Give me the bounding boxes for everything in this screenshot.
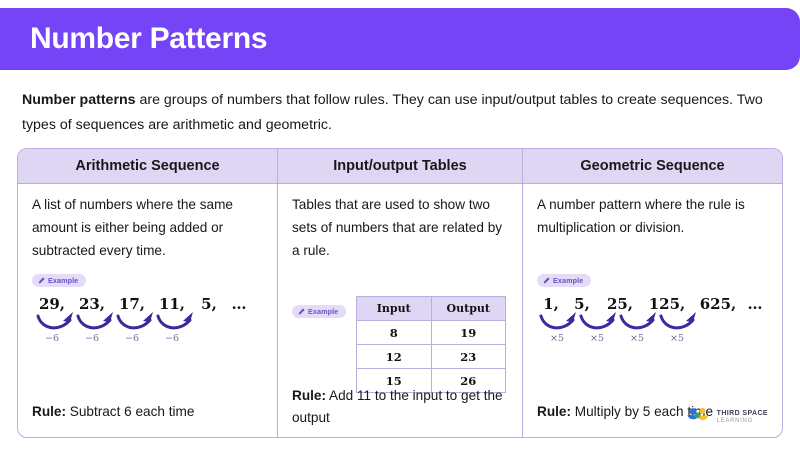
- seq-term-ellipsis: …: [226, 295, 252, 313]
- column-header-geometric: Geometric Sequence: [523, 149, 782, 184]
- sequence-numbers-geometric: 1, 5, 25, 125, 625, …: [537, 295, 768, 313]
- intro-paragraph: Number patterns are groups of numbers th…: [22, 88, 784, 138]
- column-geometric-sequence: Geometric Sequence A number pattern wher…: [523, 149, 782, 437]
- seq-term: 17,: [112, 295, 152, 313]
- rule-arithmetic: Rule: Subtract 6 each time: [32, 401, 265, 423]
- rule-label: Rule:: [537, 404, 571, 419]
- seq-term: 5,: [192, 295, 226, 313]
- sequence-arrows-arithmetic: [32, 312, 252, 338]
- column-input-output-tables: Input/output Tables Tables that are used…: [278, 149, 523, 437]
- example-badge: Example: [537, 274, 591, 287]
- third-space-learning-mark-icon: [686, 407, 712, 427]
- seq-term: 625,: [693, 295, 743, 313]
- table-cell-output: 19: [431, 321, 506, 345]
- rule-label: Rule:: [292, 388, 326, 403]
- seq-term: 11,: [152, 295, 192, 313]
- arrow-row-arithmetic: [32, 312, 263, 338]
- rule-input-output: Rule: Add 11 to the input to get the out…: [292, 385, 510, 429]
- pencil-icon: [298, 308, 305, 315]
- page-header-banner: Number Patterns: [0, 8, 800, 70]
- example-badge-label: Example: [308, 307, 338, 316]
- example-badge-label: Example: [553, 276, 583, 285]
- seq-term: 125,: [641, 295, 693, 313]
- brand-logo-text: THIRD SPACE LEARNING: [717, 410, 768, 425]
- table-row: 8 19: [357, 321, 506, 345]
- brand-logo: THIRD SPACE LEARNING: [686, 407, 768, 427]
- seq-term: 25,: [599, 295, 641, 313]
- example-badge: Example: [292, 305, 346, 318]
- table-column-header-output: Output: [431, 297, 506, 321]
- example-badge-label: Example: [48, 276, 78, 285]
- rule-label: Rule:: [32, 404, 66, 419]
- table-row: 12 23: [357, 345, 506, 369]
- intro-bold-lead: Number patterns: [22, 92, 136, 108]
- seq-term: 1,: [537, 295, 565, 313]
- seq-term: 5,: [565, 295, 599, 313]
- column-body-input-output: Tables that are used to show two sets of…: [278, 184, 522, 437]
- column-body-arithmetic: A list of numbers where the same amount …: [18, 184, 277, 437]
- description-arithmetic: A list of numbers where the same amount …: [32, 193, 263, 262]
- table-column-header-input: Input: [357, 297, 432, 321]
- description-geometric: A number pattern where the rule is multi…: [537, 193, 768, 239]
- rule-text: Subtract 6 each time: [66, 404, 194, 419]
- arrow-row-geometric: [537, 312, 768, 338]
- sequence-geometric: 1, 5, 25, 125, 625, …: [537, 295, 768, 344]
- column-arithmetic-sequence: Arithmetic Sequence A list of numbers wh…: [18, 149, 278, 437]
- table-cell-input: 8: [357, 321, 432, 345]
- example-badge-geometric-wrap: Example: [537, 271, 768, 289]
- column-header-arithmetic: Arithmetic Sequence: [18, 149, 277, 184]
- pencil-icon: [543, 277, 550, 284]
- column-body-geometric: A number pattern where the rule is multi…: [523, 184, 782, 437]
- brand-name-line2: LEARNING: [717, 418, 768, 425]
- sequence-arithmetic: 29, 23, 17, 11, 5, …: [32, 295, 263, 344]
- page-title: Number Patterns: [30, 24, 267, 54]
- description-input-output: Tables that are used to show two sets of…: [292, 193, 508, 262]
- table-header-row: Input Output: [357, 297, 506, 321]
- brand-name-line1: THIRD SPACE: [717, 410, 768, 418]
- seq-term: 29,: [32, 295, 72, 313]
- column-header-input-output: Input/output Tables: [278, 149, 522, 184]
- input-output-table: Input Output 8 19 12 23 15 26: [356, 296, 506, 393]
- sequence-arrows-geometric: [537, 312, 767, 338]
- example-badge-arithmetic-wrap: Example: [32, 271, 263, 289]
- comparison-card: Arithmetic Sequence A list of numbers wh…: [17, 148, 783, 438]
- pencil-icon: [38, 277, 45, 284]
- seq-term: 23,: [72, 295, 112, 313]
- seq-term-ellipsis: …: [743, 295, 767, 313]
- example-badge: Example: [32, 274, 86, 287]
- sequence-numbers-arithmetic: 29, 23, 17, 11, 5, …: [32, 295, 263, 313]
- table-cell-output: 23: [431, 345, 506, 369]
- example-badge-io-wrap: Example: [292, 302, 346, 320]
- table-cell-input: 12: [357, 345, 432, 369]
